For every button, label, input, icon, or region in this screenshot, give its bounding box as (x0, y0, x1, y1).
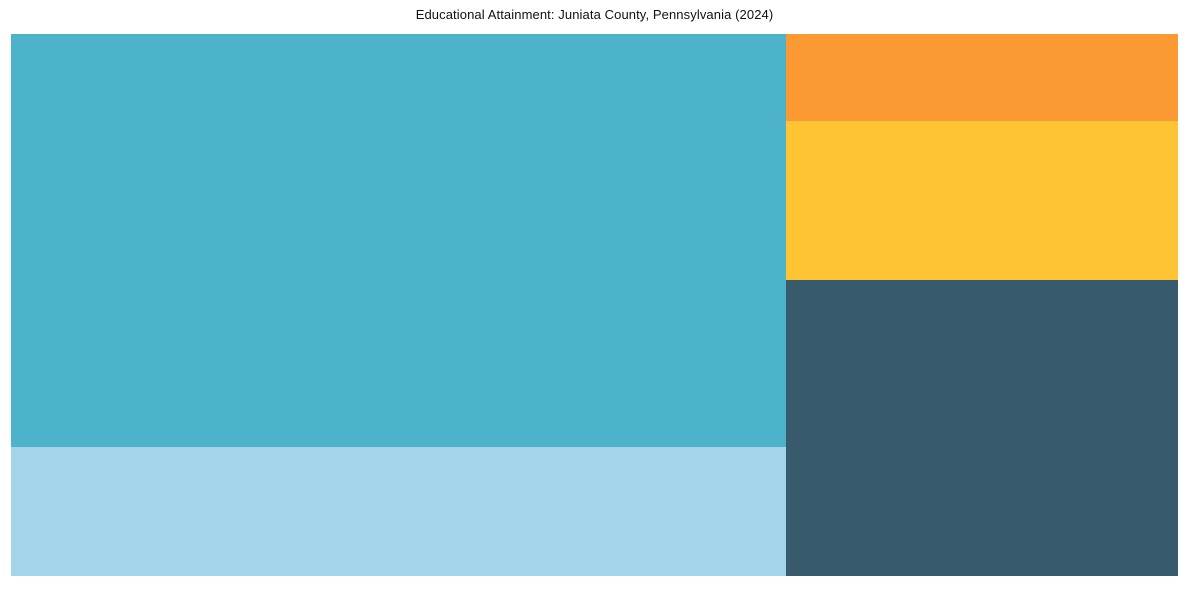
treemap-plot-area: High school graduate Some college, no de… (11, 34, 1178, 576)
treemap-tile-some-college-no-degree[interactable]: Some college, no degree (11, 447, 786, 576)
chart-title: Educational Attainment: Juniata County, … (0, 7, 1189, 23)
treemap-figure: Educational Attainment: Juniata County, … (0, 0, 1189, 590)
treemap-tile-high-school-graduate[interactable]: High school graduate (11, 34, 786, 447)
treemap-tile-associates-degree[interactable]: Associate's degree (786, 121, 1178, 280)
treemap-column-right: Graduate or professional degree Associat… (786, 34, 1178, 576)
treemap-tile-graduate-or-professional-degree[interactable]: Graduate or professional degree (786, 34, 1178, 121)
treemap-tile-bachelors-degree[interactable]: Bachelor's degree (786, 280, 1178, 576)
treemap-column-left: High school graduate Some college, no de… (11, 34, 786, 576)
